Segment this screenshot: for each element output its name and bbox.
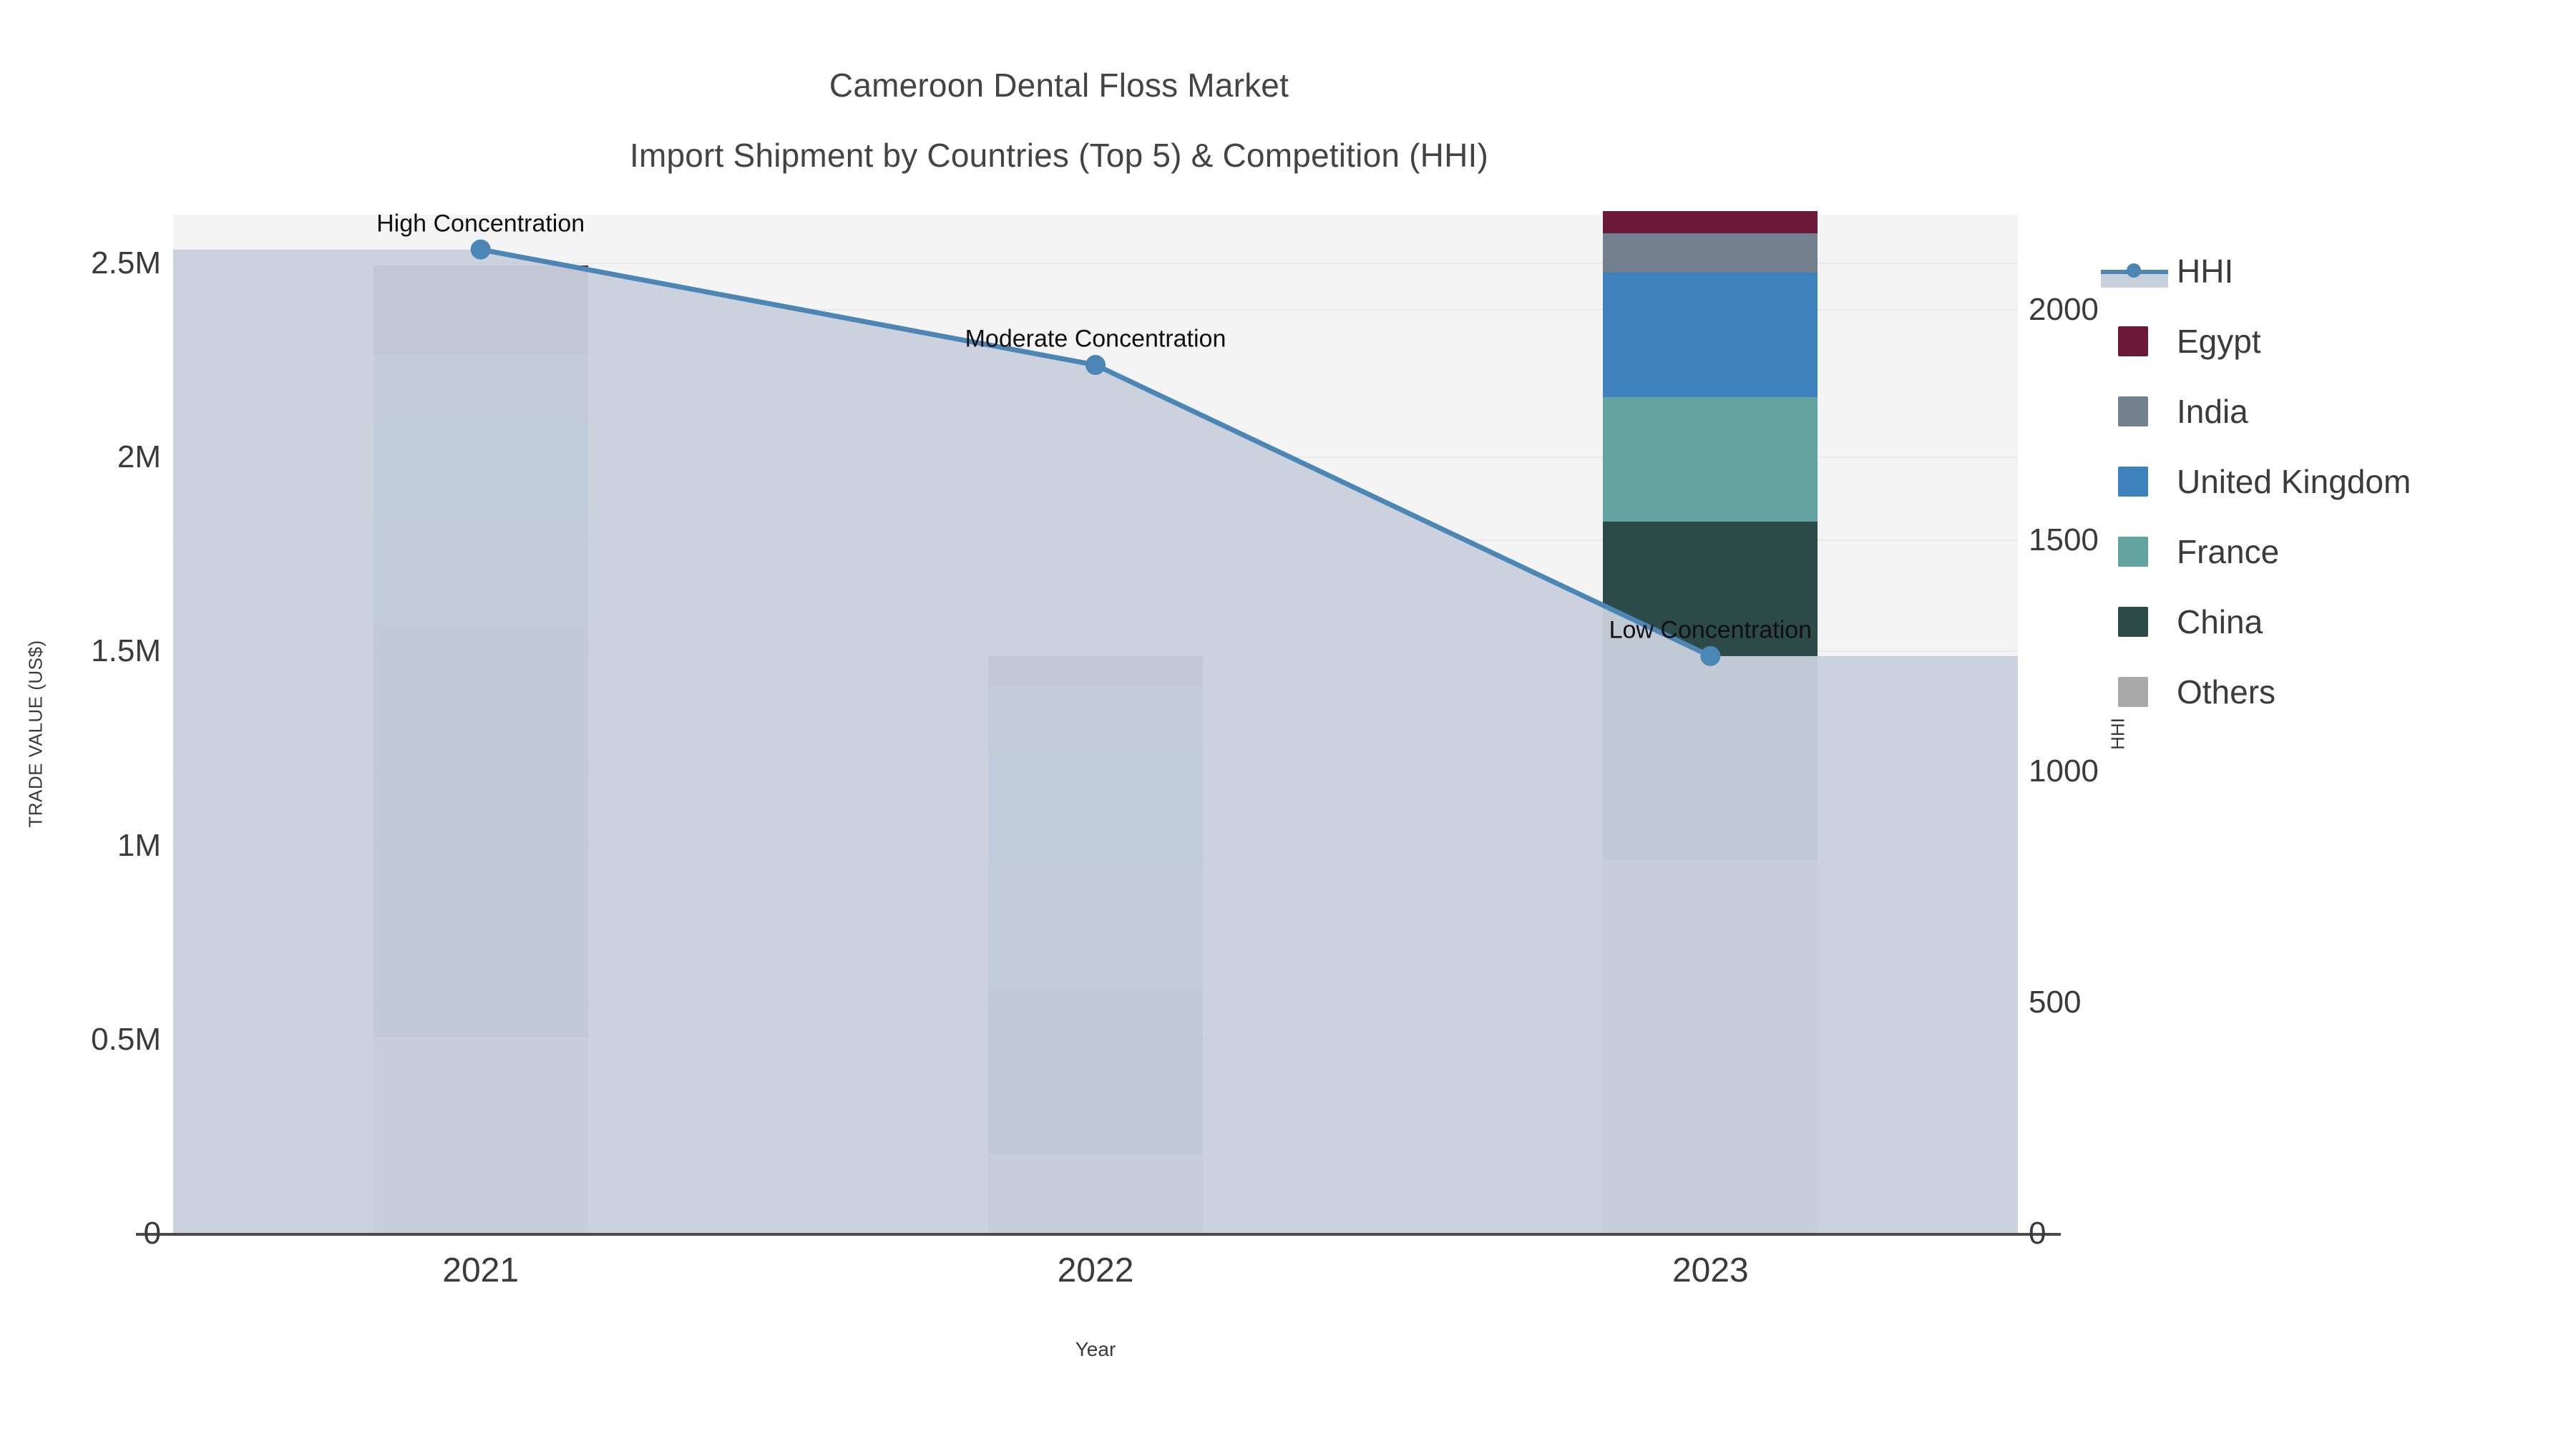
bar-segment-egypt [1603,211,1818,233]
legend-item-china[interactable]: China [2118,587,2576,657]
legend-item-egypt[interactable]: Egypt [2118,306,2576,376]
legend-swatch-egypt [2118,326,2148,356]
annotation-2023: Low Concentration [1609,616,1813,644]
y-axis-left-tick: 0.5M [0,1022,161,1058]
y-axis-left-tick: 2.5M [0,245,161,281]
chart-root: Cameroon Dental Floss Market Import Ship… [0,0,2576,1449]
annotation-2021: High Concentration [376,210,585,238]
legend-label: HHI [2177,252,2233,291]
y-axis-left-tick: 0 [0,1216,161,1252]
chart-title-line-1: Cameroon Dental Floss Market [0,50,2118,120]
legend-label: Egypt [2177,322,2261,361]
legend-label: Others [2177,673,2275,711]
annotation-2022: Moderate Concentration [965,326,1226,353]
bar-segment-others [1603,860,1818,1234]
legend-item-france[interactable]: France [2118,517,2576,587]
legend-label: United Kingdom [2177,462,2411,501]
legend-label: India [2177,392,2248,431]
bar-segment-india [988,686,1203,751]
y-axis-left-title: TRADE VALUE (US$) [25,613,47,856]
hhi-line-icon [2118,256,2148,286]
bar-segment-china [374,625,588,1037]
bar-segment-india [374,354,588,419]
bar-segment-india [1603,233,1818,273]
bar-segment-france [374,514,588,625]
x-axis-baseline [136,1233,2061,1236]
x-axis-tick-2022: 2022 [967,1251,1224,1290]
y-axis-right-tick: 500 [2029,985,2193,1020]
chart-title-line-2: Import Shipment by Countries (Top 5) & C… [0,120,2118,190]
line-dot-icon [2127,263,2141,278]
bar-segment-others [988,1154,1203,1234]
x-axis-tick-2021: 2021 [352,1251,610,1290]
legend-swatch-others [2118,677,2148,707]
x-axis-title: Year [967,1338,1224,1361]
legend-swatch-united-kingdom [2118,467,2148,497]
bar-segment-china [1603,522,1818,860]
chart-legend: HHIEgyptIndiaUnited KingdomFranceChinaOt… [2118,236,2576,727]
x-axis-tick-2023: 2023 [1581,1251,1839,1290]
bar-segment-united-kingdom [1603,273,1818,397]
bar-segment-egypt [374,265,588,354]
legend-item-others[interactable]: Others [2118,657,2576,727]
legend-swatch-france [2118,537,2148,567]
bar-segment-egypt [988,656,1203,686]
y-axis-right-tick: 0 [2029,1216,2193,1252]
bar-segment-france [988,864,1203,990]
bar-segment-united-kingdom [988,751,1203,864]
legend-item-united-kingdom[interactable]: United Kingdom [2118,447,2576,517]
bar-segment-others [374,1037,588,1234]
legend-label: France [2177,532,2279,571]
bar-segment-china [988,990,1203,1153]
legend-swatch-china [2118,607,2148,637]
legend-label: China [2177,602,2263,641]
bar-segment-france [1603,397,1818,522]
legend-item-hhi[interactable]: HHI [2118,236,2576,306]
chart-title-block: Cameroon Dental Floss Market Import Ship… [0,50,2118,190]
y-axis-left-tick: 2M [0,439,161,475]
bar-segment-united-kingdom [374,419,588,514]
legend-swatch-india [2118,396,2148,426]
legend-item-india[interactable]: India [2118,376,2576,447]
